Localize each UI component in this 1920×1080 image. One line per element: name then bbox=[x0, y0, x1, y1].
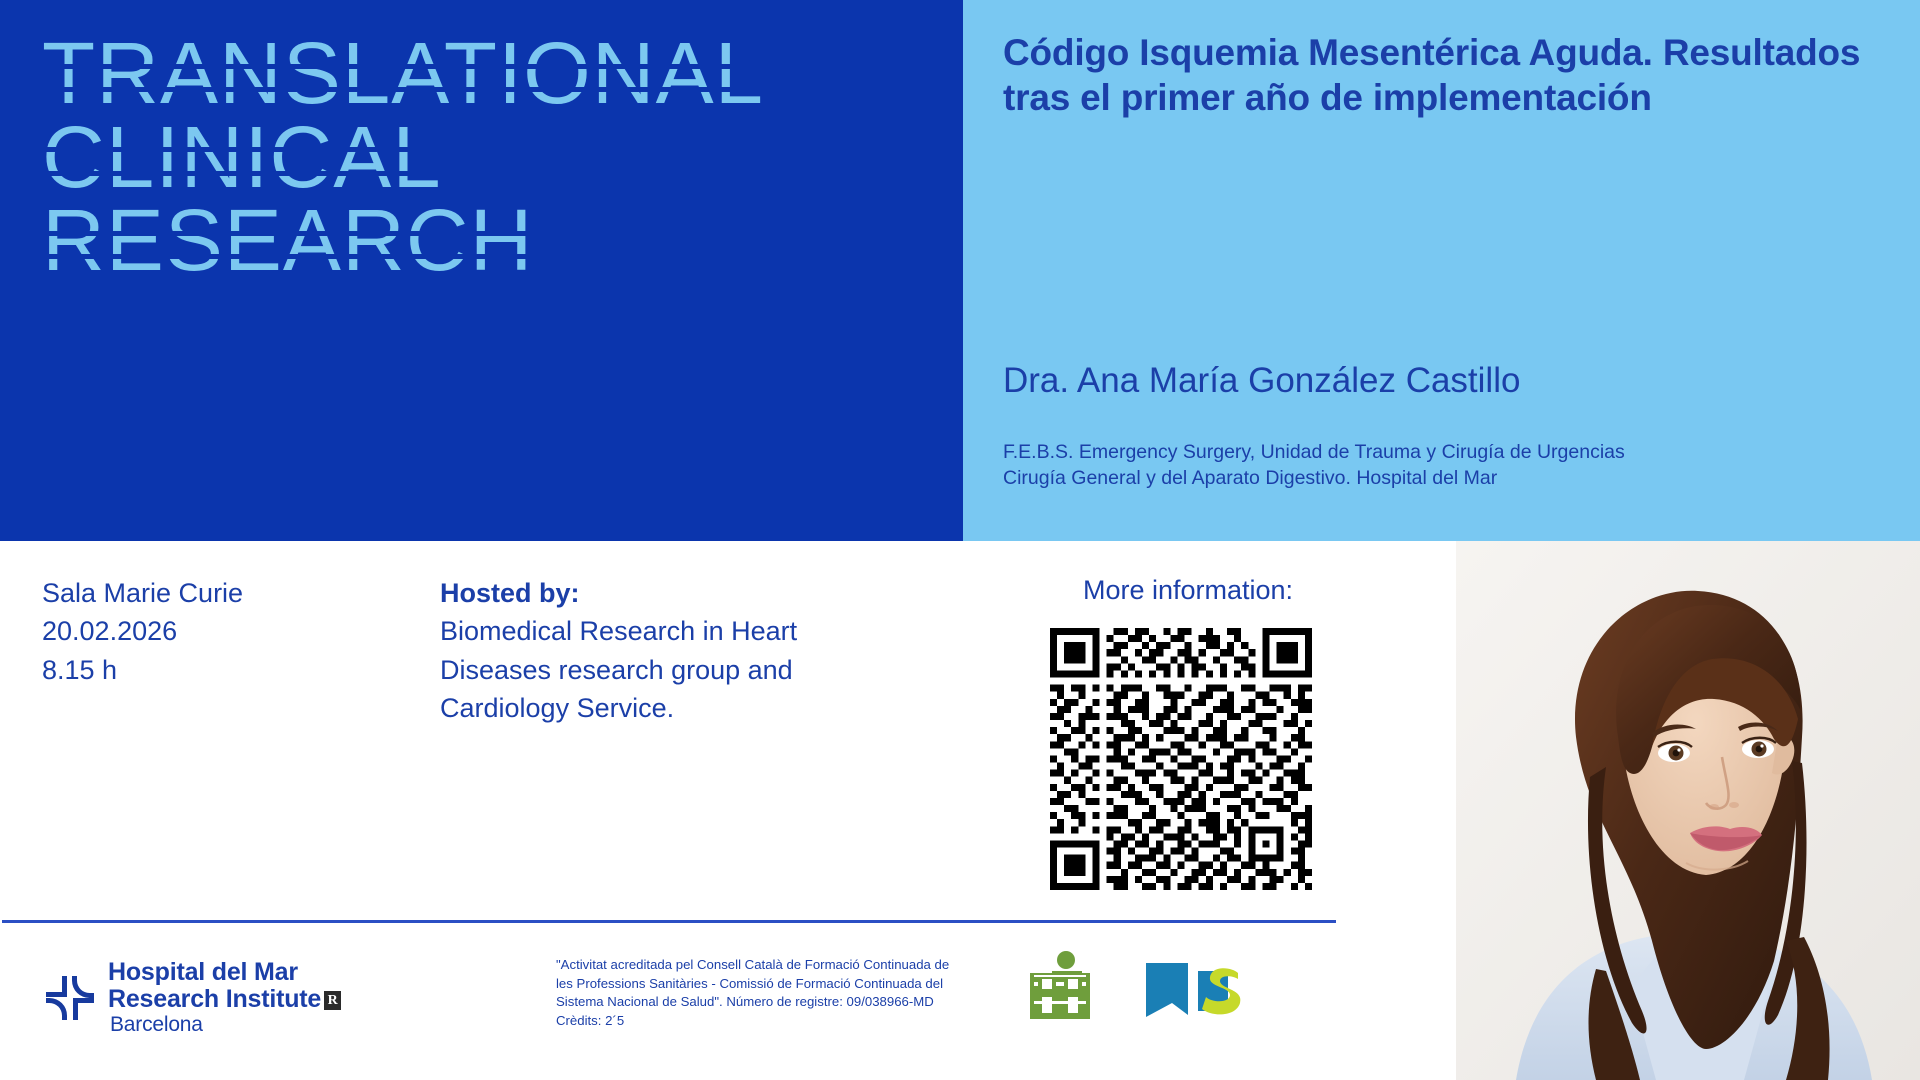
qr-code[interactable] bbox=[1050, 628, 1312, 890]
institute-line-1: Hospital del Mar bbox=[108, 959, 341, 986]
event-when-block: Sala Marie Curie 20.02.2026 8.15 h bbox=[42, 574, 342, 689]
event-room: Sala Marie Curie bbox=[42, 574, 342, 612]
institute-name: Hospital del Mar Research InstituteR Bar… bbox=[108, 959, 341, 1037]
brand-line-3: RESEARCH bbox=[42, 199, 922, 283]
speaker-affiliation: F.E.B.S. Emergency Surgery, Unidad de Tr… bbox=[1003, 440, 1903, 491]
speaker-name: Dra. Ana María González Castillo bbox=[1003, 361, 1893, 401]
speaker-portrait bbox=[1456, 541, 1920, 1080]
affiliation-line-1: F.E.B.S. Emergency Surgery, Unidad de Tr… bbox=[1003, 440, 1903, 466]
brand-panel: TRANSLATIONAL CLINICAL RESEARCH bbox=[0, 0, 963, 541]
affiliation-line-2: Cirugía General y del Aparato Digestivo.… bbox=[1003, 466, 1903, 492]
institute-city: Barcelona bbox=[108, 1014, 341, 1037]
talk-panel: Código Isquemia Mesentérica Aguda. Resul… bbox=[963, 0, 1920, 541]
registered-mark-badge: R bbox=[324, 991, 341, 1010]
institute-line-2: Research InstituteR bbox=[108, 986, 341, 1013]
event-time: 8.15 h bbox=[42, 651, 342, 689]
ps-logo-icon bbox=[1142, 957, 1250, 1023]
cfc-logo-icon bbox=[1022, 949, 1098, 1031]
brand-line-1: TRANSLATIONAL bbox=[42, 32, 922, 116]
institute-logo: Hospital del Mar Research InstituteR Bar… bbox=[44, 959, 341, 1037]
hosted-by-label: Hosted by: bbox=[440, 574, 840, 612]
hosted-by-body: Biomedical Research in Heart Diseases re… bbox=[440, 616, 797, 723]
more-information-block: More information: bbox=[1050, 574, 1350, 890]
footer-divider bbox=[2, 920, 1336, 923]
partner-logos bbox=[1022, 949, 1250, 1031]
brand-logo: TRANSLATIONAL CLINICAL RESEARCH bbox=[42, 32, 922, 283]
hospital-cross-icon bbox=[44, 972, 96, 1024]
brand-line-2: CLINICAL bbox=[42, 116, 922, 200]
event-date: 20.02.2026 bbox=[42, 612, 342, 650]
hosted-by-block: Hosted by: Biomedical Research in Heart … bbox=[440, 574, 840, 727]
details-section: Sala Marie Curie 20.02.2026 8.15 h Hoste… bbox=[0, 541, 1456, 1080]
poster-header: TRANSLATIONAL CLINICAL RESEARCH Código I… bbox=[0, 0, 1920, 541]
accreditation-text: "Activitat acreditada pel Consell Català… bbox=[556, 956, 956, 1031]
more-information-label: More information: bbox=[1050, 574, 1326, 606]
talk-title: Código Isquemia Mesentérica Aguda. Resul… bbox=[1003, 30, 1883, 120]
